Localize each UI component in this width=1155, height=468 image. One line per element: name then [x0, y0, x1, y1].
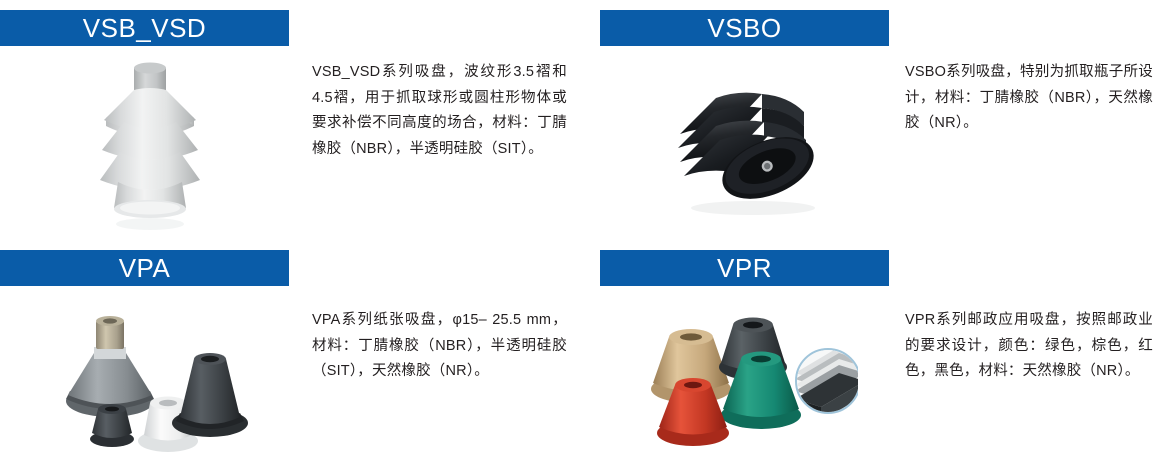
product-title-vpa: VPA — [119, 255, 171, 281]
product-image-vsbo[interactable] — [600, 52, 900, 234]
product-image-vsb-vsd[interactable] — [0, 52, 300, 234]
product-description-vsbo: VSBO系列吸盘，特别为抓取瓶子所设计，材料：丁腈橡胶（NBR），天然橡胶（NR… — [905, 60, 1153, 137]
product-catalog-page: VSB_VSD — [0, 0, 1155, 468]
product-title-vsbo: VSBO — [707, 15, 781, 41]
product-title-bar-vpa: VPA — [0, 250, 289, 286]
postal-suction-cups-colored-group-icon — [643, 303, 858, 463]
product-card-vsb-vsd[interactable]: VSB_VSD — [0, 0, 577, 234]
product-image-vpa[interactable] — [0, 292, 300, 468]
product-description-vpr: VPR系列邮政应用吸盘，按照邮政业的要求设计，颜色：绿色，棕色，红色，黑色，材料… — [905, 308, 1153, 385]
product-card-vpa[interactable]: VPA — [0, 240, 577, 468]
product-image-vpr[interactable] — [600, 292, 900, 468]
bellows-suction-cup-translucent-icon — [80, 56, 220, 231]
flat-paper-suction-cups-group-icon — [50, 303, 250, 463]
oval-bellows-suction-cup-black-icon — [658, 68, 843, 218]
product-description-vpa: VPA系列纸张吸盘，φ15– 25.5 mm，材料：丁腈橡胶（NBR），半透明硅… — [312, 308, 567, 385]
product-title-bar-vpr: VPR — [600, 250, 889, 286]
product-title-bar-vsbo: VSBO — [600, 10, 889, 46]
product-description-vsb-vsd: VSB_VSD系列吸盘，波纹形3.5褶和4.5褶，用于抓取球形或圆柱形物体或要求… — [312, 60, 567, 162]
product-title-vsb-vsd: VSB_VSD — [83, 15, 206, 41]
product-card-vsbo[interactable]: VSBO — [578, 0, 1155, 234]
product-title-bar-vsb-vsd: VSB_VSD — [0, 10, 289, 46]
product-card-vpr[interactable]: VPR — [578, 240, 1155, 468]
product-title-vpr: VPR — [717, 255, 772, 281]
